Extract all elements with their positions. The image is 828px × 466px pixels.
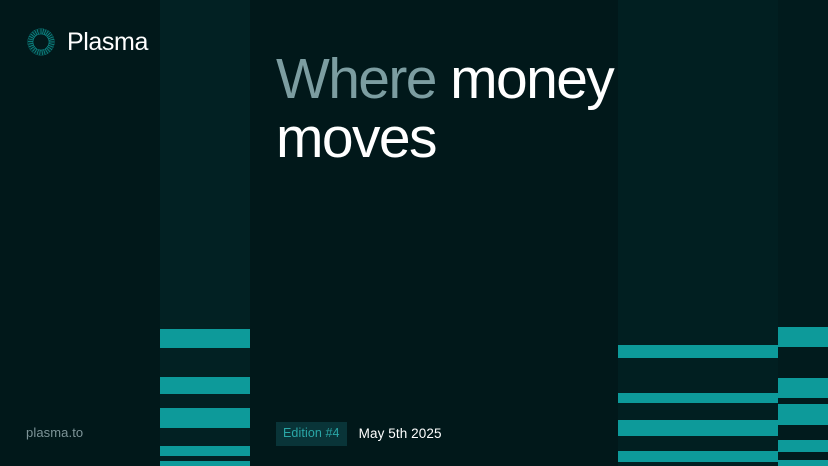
plasma-radial-sphere-icon bbox=[26, 27, 56, 57]
page-title: Where money moves bbox=[276, 50, 696, 169]
brand-name: Plasma bbox=[67, 30, 148, 55]
site-url-link[interactable]: plasma.to bbox=[26, 425, 83, 440]
chart-bar bbox=[160, 446, 250, 456]
chart-bar bbox=[160, 329, 250, 348]
chart-bar bbox=[160, 461, 250, 466]
chart-bar bbox=[778, 327, 828, 347]
meta-row: Edition #4 May 5th 2025 bbox=[276, 422, 442, 446]
brand-logo[interactable]: Plasma bbox=[26, 27, 148, 57]
chart-bar bbox=[160, 408, 250, 428]
chart-bar bbox=[618, 451, 778, 462]
chart-bar bbox=[778, 404, 828, 425]
chart-bar bbox=[160, 377, 250, 394]
slide-canvas: Plasma Where money moves plasma.to Editi… bbox=[0, 0, 828, 466]
chart-bar bbox=[618, 393, 778, 403]
edition-badge: Edition #4 bbox=[276, 422, 347, 446]
chart-bar bbox=[618, 420, 778, 436]
chart-bar bbox=[778, 378, 828, 398]
publish-date: May 5th 2025 bbox=[359, 426, 442, 441]
headline-accent-word: Where bbox=[276, 47, 450, 111]
chart-bar bbox=[778, 440, 828, 452]
chart-bar bbox=[778, 460, 828, 466]
chart-bar bbox=[618, 345, 778, 358]
background-panel-left bbox=[160, 0, 250, 466]
